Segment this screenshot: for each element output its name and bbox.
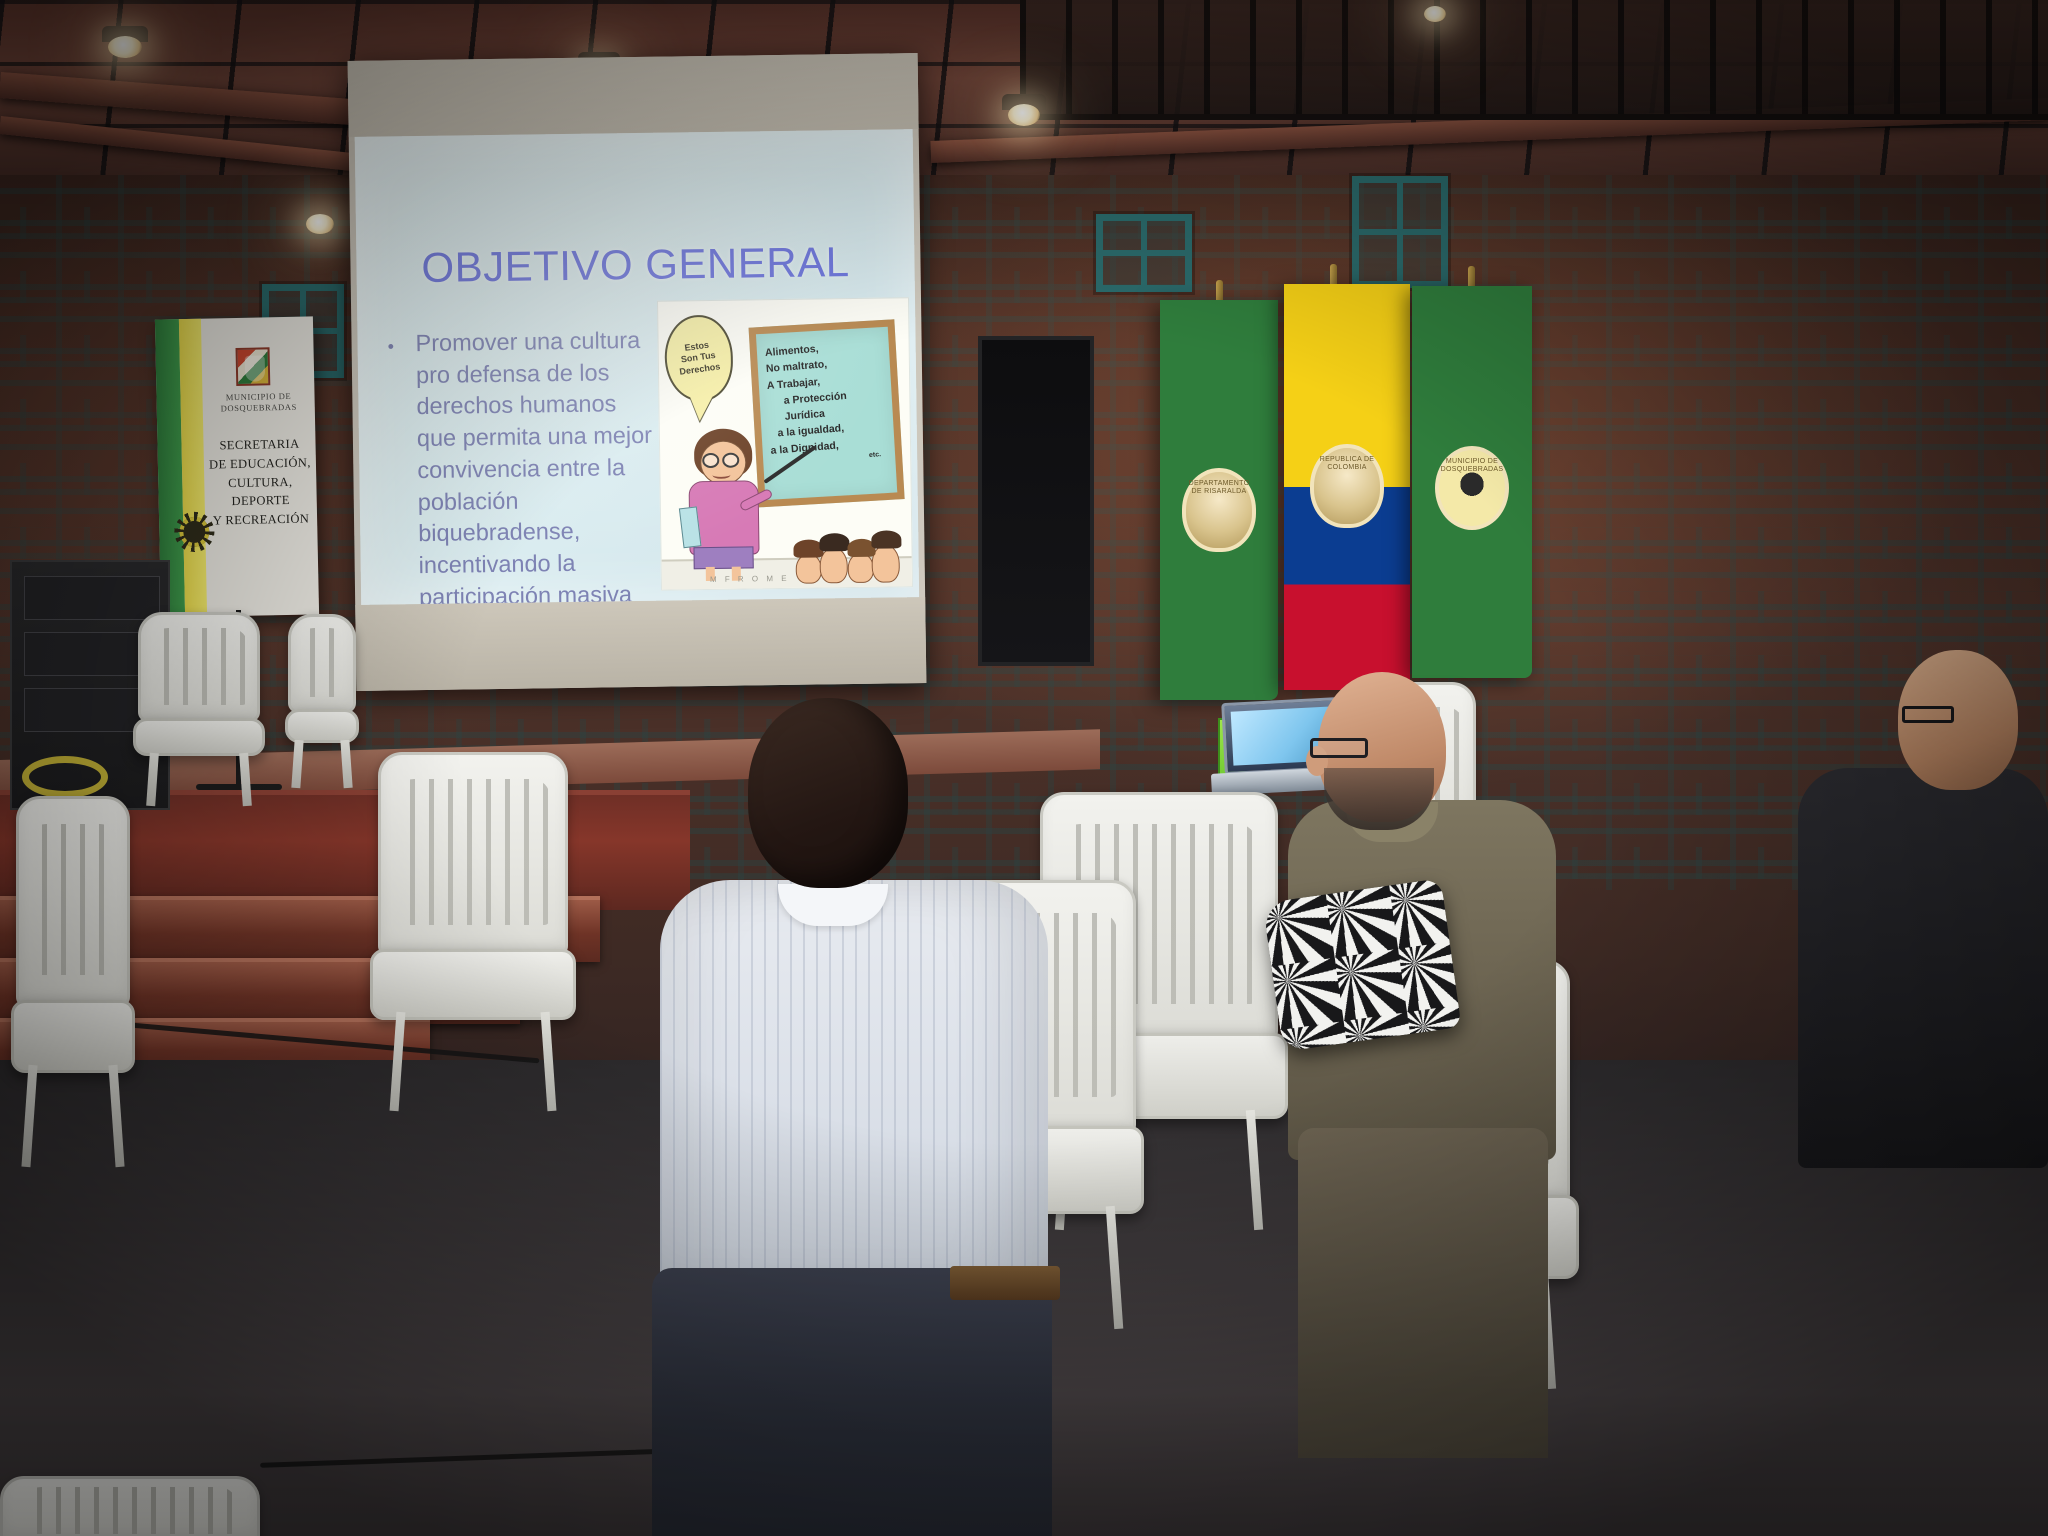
- flag-crest: REPUBLICA DE COLOMBIA: [1310, 444, 1384, 528]
- screen-bottom-bar: [355, 597, 926, 691]
- chair-leg: [390, 1012, 406, 1111]
- chair-seat: [285, 709, 358, 743]
- wall-window: [1352, 176, 1448, 288]
- bullet-glyph: •: [387, 334, 394, 358]
- lamp-bulb: [1008, 104, 1040, 126]
- chair-seat: [11, 1000, 134, 1073]
- flag-crest: DEPARTAMENTO DE RISARALDA: [1182, 468, 1256, 552]
- attendee-patterned-sleeve: [1262, 878, 1461, 1052]
- chair-back: [288, 614, 356, 713]
- chair-leg: [1106, 1205, 1124, 1329]
- chair-leg: [146, 752, 159, 806]
- ceiling-lamp: [306, 214, 334, 234]
- chair-back: [0, 1476, 260, 1536]
- illustration-signature: M F R O M E: [710, 574, 790, 584]
- chair-slats: [23, 1487, 236, 1534]
- attendee-white-shirt: [660, 698, 1060, 1536]
- slide-illustration: Estos Son Tus Derechos Alimentos, No mal…: [657, 297, 913, 590]
- chair-slats: [396, 779, 551, 926]
- eyeglasses: [1902, 706, 1954, 723]
- cable-coil: [22, 756, 108, 798]
- chair[interactable]: [378, 752, 568, 1104]
- chair[interactable]: [288, 614, 356, 784]
- chair-leg: [108, 1065, 124, 1167]
- municipal-crest-icon: [236, 347, 271, 386]
- roll-up-banner: MUNICIPIO DE DOSQUEBRADAS SECRETARIA DE …: [155, 316, 319, 617]
- chalkboard-list: Alimentos, No maltrato, A Trabajar, a Pr…: [764, 337, 891, 468]
- belt: [950, 1266, 1060, 1300]
- slide-body: • Promover una cultura pro defensa de lo…: [387, 325, 660, 605]
- slide-bullet-text: Promover una cultura pro defensa de los …: [415, 325, 660, 605]
- crowd-face: [871, 544, 900, 582]
- screen-top-bar: [348, 53, 919, 137]
- teacher-glasses-lens: [702, 453, 719, 468]
- chair-leg: [292, 740, 304, 788]
- chair-leg: [239, 752, 252, 806]
- crowd-face: [796, 553, 822, 583]
- wall-window: [1096, 214, 1192, 292]
- upper-balcony-rail: [1020, 0, 2048, 120]
- chair-slats: [150, 628, 247, 705]
- crest-inner: [245, 355, 266, 381]
- chair[interactable]: [0, 1476, 260, 1536]
- chair-leg: [1246, 1110, 1263, 1231]
- chair-leg: [340, 740, 352, 788]
- rail-bars: [1020, 0, 2048, 114]
- attendee-right-edge: [1798, 650, 2048, 1410]
- person-pants: [652, 1268, 1052, 1536]
- photo-scene: OBJETIVO GENERAL • Promover una cultura …: [0, 0, 2048, 1536]
- crowd-hair: [871, 530, 901, 548]
- speech-bubble: Estos Son Tus Derechos: [664, 315, 733, 402]
- gear-icon: [179, 517, 210, 548]
- chair-back: [16, 796, 130, 1007]
- chair-slats: [28, 824, 119, 976]
- speech-bubble-text: Estos Son Tus Derechos: [676, 339, 721, 378]
- teacher-skirt: [693, 546, 753, 569]
- projection-screen: OBJETIVO GENERAL • Promover una cultura …: [348, 53, 927, 691]
- cartoon-crowd: [793, 516, 912, 584]
- lamp-bulb: [306, 214, 334, 234]
- crowd-hair: [819, 533, 849, 551]
- ceiling-lamp: [1424, 6, 1446, 22]
- shirt-stripes: [660, 880, 1048, 1300]
- crowd-face: [819, 547, 847, 583]
- flag-colombia: REPUBLICA DE COLOMBIA: [1284, 284, 1410, 690]
- lamp-bulb: [1424, 6, 1446, 22]
- ceiling-lamp: [108, 36, 142, 58]
- chair-seat: [133, 718, 265, 756]
- crowd-face: [848, 553, 874, 583]
- chair-back: [378, 752, 568, 956]
- teacher-figure: [678, 428, 776, 579]
- chair-back: [138, 612, 260, 722]
- chair-seat: [370, 949, 575, 1019]
- flag-risaralda: DEPARTAMENTO DE RISARALDA: [1160, 300, 1278, 700]
- banner-department-text: SECRETARIA DE EDUCACIÓN, CULTURA, DEPORT…: [207, 434, 313, 530]
- flag-crest-label: REPUBLICA DE COLOMBIA: [1314, 456, 1380, 473]
- flag-crest-label: MUNICIPIO DE DOSQUEBRADAS: [1439, 458, 1505, 475]
- eyeglasses: [1310, 738, 1368, 758]
- person-head: [748, 698, 908, 888]
- chair[interactable]: [16, 796, 130, 1160]
- flag-crest-label: DEPARTAMENTO DE RISARALDA: [1186, 480, 1252, 497]
- projected-slide: OBJETIVO GENERAL • Promover una cultura …: [355, 129, 919, 605]
- gear-crest-icon: MUNICIPIO DE DOSQUEBRADAS: [1435, 446, 1509, 530]
- slide-title: OBJETIVO GENERAL: [356, 237, 915, 293]
- lamp-bulb: [108, 36, 142, 58]
- chair-leg: [540, 1012, 556, 1111]
- banner-municipality-text: MUNICIPIO DE DOSQUEBRADAS: [208, 390, 308, 415]
- person-legs: [1298, 1128, 1548, 1458]
- chair-leg: [22, 1065, 38, 1167]
- chair-slats: [296, 628, 348, 697]
- chair[interactable]: [138, 612, 260, 802]
- ceiling-lamp: [1008, 104, 1040, 126]
- doorway: [978, 336, 1094, 666]
- person-torso: [1798, 768, 2048, 1168]
- attendee-bald-glasses: [1288, 672, 1568, 1472]
- flag-dosquebradas: MUNICIPIO DE DOSQUEBRADAS: [1412, 286, 1532, 678]
